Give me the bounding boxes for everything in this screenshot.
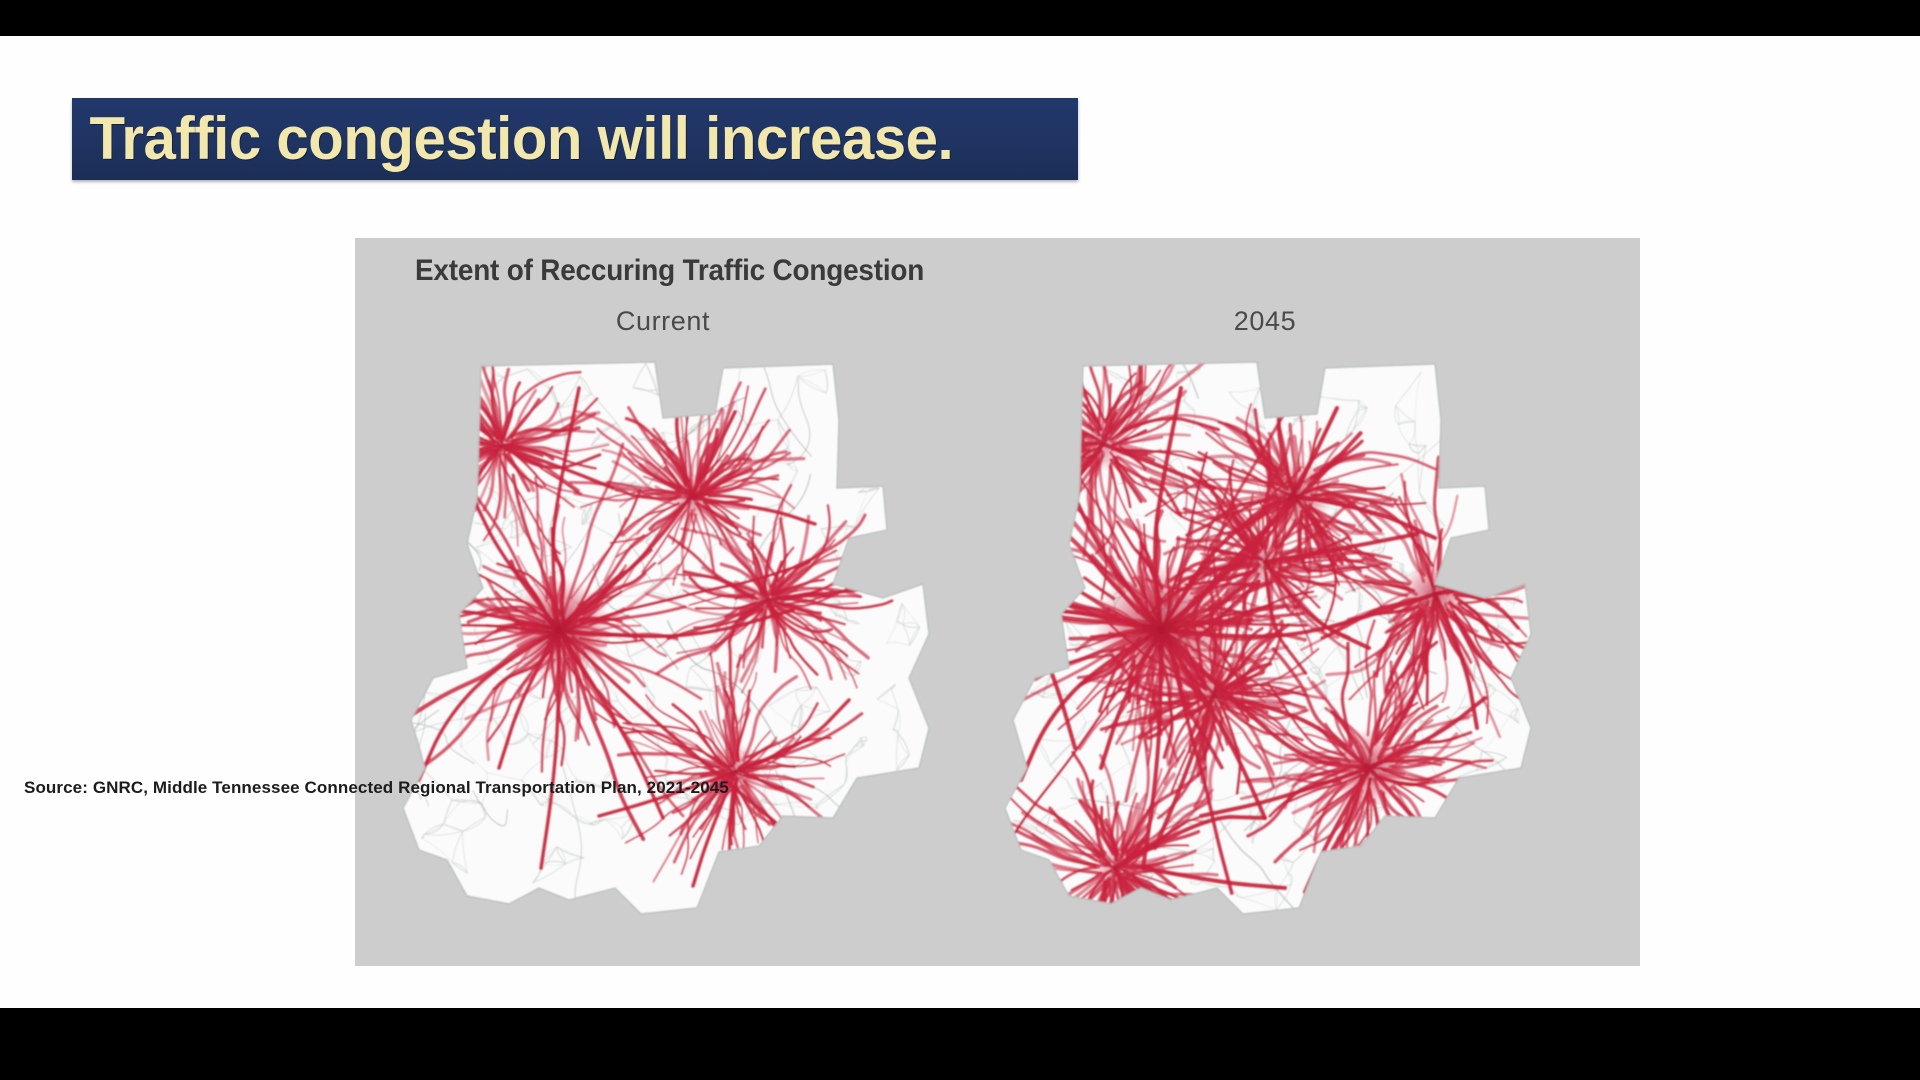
source-citation: Source: GNRC, Middle Tennessee Connected… bbox=[24, 778, 729, 798]
presentation-slide: Traffic congestion will increase. Extent… bbox=[0, 36, 1920, 1008]
map-caption-current: Current bbox=[363, 306, 963, 337]
figure-panel: Extent of Reccuring Traffic Congestion C… bbox=[355, 238, 1640, 966]
letterbox-top bbox=[0, 0, 1920, 36]
slide-title: Traffic congestion will increase. bbox=[72, 109, 953, 169]
slide-screen: Traffic congestion will increase. Extent… bbox=[0, 0, 1920, 1080]
map-caption-2045: 2045 bbox=[965, 306, 1565, 337]
letterbox-bottom bbox=[0, 1008, 1920, 1080]
map-current bbox=[363, 348, 963, 946]
map-2045 bbox=[965, 348, 1565, 946]
map-block-current: Current bbox=[363, 306, 963, 946]
slide-title-banner: Traffic congestion will increase. bbox=[72, 98, 1078, 180]
map-block-2045: 2045 bbox=[965, 306, 1565, 946]
figure-title: Extent of Reccuring Traffic Congestion bbox=[415, 254, 924, 288]
